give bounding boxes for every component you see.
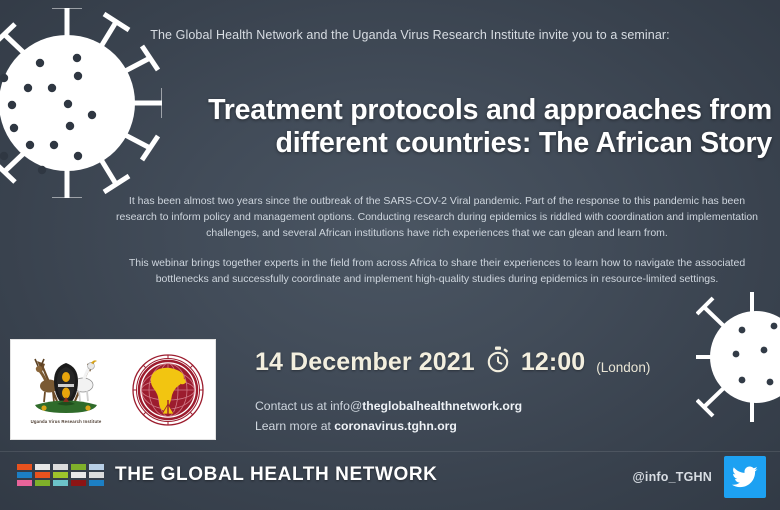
mark-cell [35,464,50,470]
mark-cell [53,472,68,478]
mark-cell [53,480,68,486]
mark-cell [89,480,104,486]
mark-cell [17,480,32,486]
contact-email-line: Contact us at info@theglobalhealthnetwor… [255,396,522,416]
contact-website-line: Learn more at coronavirus.tghn.org [255,416,522,436]
title-line-2: different countries: The African Story [120,127,772,160]
mark-cell [53,464,68,470]
invite-line: The Global Health Network and the Uganda… [0,28,780,42]
mark-cell [71,472,86,478]
mark-cell [89,464,104,470]
mark-cell [71,480,86,486]
webinar-poster: The Global Health Network and the Uganda… [0,0,780,510]
mark-cell [35,472,50,478]
brand-wordmark: THE GLOBAL HEALTH NETWORK [115,464,438,486]
mark-cell [71,464,86,470]
brand-logo: THE GLOBAL HEALTH NETWORK [17,464,438,486]
africa-seal-logo [132,354,204,426]
mark-cell [89,472,104,478]
contact-website-url[interactable]: coronavirus.tghn.org [334,419,457,433]
footer-divider [0,451,780,452]
event-date: 14 December 2021 [255,348,475,377]
social-block: @info_TGHN [633,456,766,498]
stopwatch-icon [486,346,510,378]
twitter-bird-icon[interactable] [724,456,766,498]
event-timezone: (London) [596,360,650,378]
contact-email-prefix: Contact us at info@ [255,399,362,413]
mark-cell [17,472,32,478]
description-paragraph-2: This webinar brings together experts in … [108,255,766,287]
uvri-caption: Uganda Virus Research Institute [31,419,102,424]
mark-cell [35,480,50,486]
coronavirus-particle-icon [696,292,780,422]
description-paragraph-1: It has been almost two years since the o… [108,193,766,242]
event-datetime: 14 December 2021 12:00 (London) [255,346,650,378]
contact-block: Contact us at info@theglobalhealthnetwor… [255,396,522,436]
contact-email-domain[interactable]: theglobalhealthnetwork.org [362,399,522,413]
uganda-coat-of-arms-logo: Uganda Virus Research Institute [22,355,110,424]
title-line-1: Treatment protocols and approaches from [208,94,772,126]
page-title: Treatment protocols and approaches from … [120,94,772,160]
partner-logos-card: Uganda Virus Research Institute [10,339,216,440]
event-time: 12:00 [521,348,585,377]
mark-cell [17,464,32,470]
twitter-handle: @info_TGHN [633,470,712,484]
tghn-logo-mark [17,464,104,486]
contact-website-prefix: Learn more at [255,419,334,433]
